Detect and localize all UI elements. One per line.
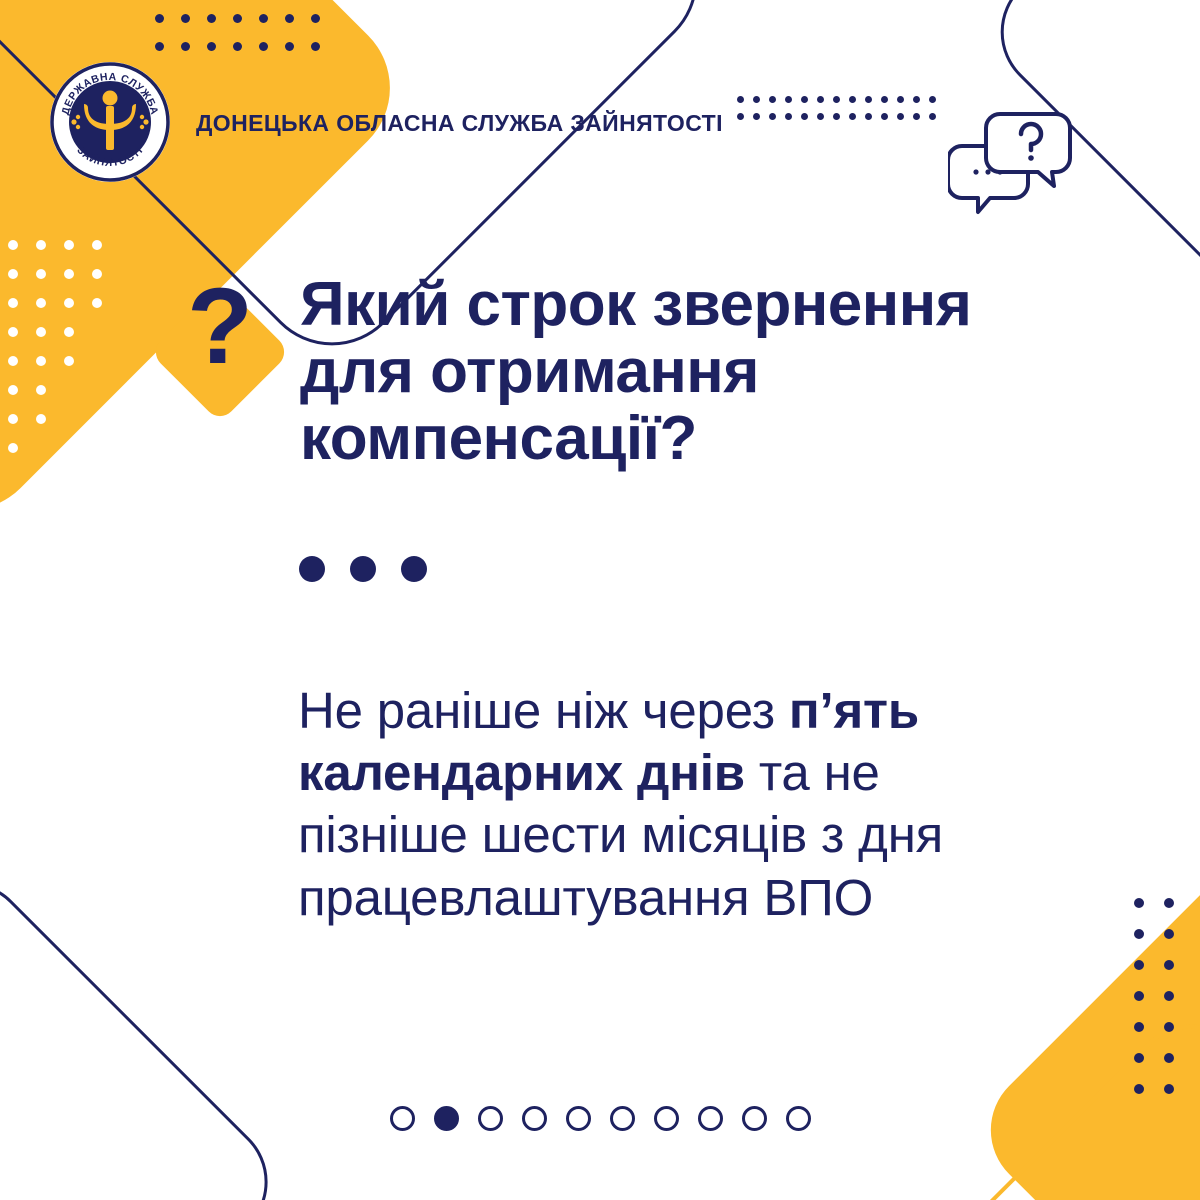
page-title: Який строк звернення для отримання компе… [300,272,1100,473]
decorative-navy-outline-diamond-bottom-left [0,857,293,1200]
decorative-dot [1134,960,1144,970]
decorative-dot [8,385,18,395]
decorative-dot [8,414,18,424]
decorative-dot [36,269,46,279]
decorative-dot [1164,1084,1174,1094]
decorative-dot [36,443,46,453]
pagination-dot-1[interactable] [390,1106,415,1131]
answer-text-part1: Не раніше ніж через [298,682,789,739]
decorative-dot [1164,960,1174,970]
decorative-dot [64,327,74,337]
question-mark-badge: ? [156,288,284,416]
decorative-dot [92,385,102,395]
decorative-dot [233,42,242,51]
decorative-dot [207,42,216,51]
separator-dot [401,556,427,582]
decorative-dot [285,42,294,51]
decorative-dot [64,240,74,250]
organization-logo: ДЕРЖАВНА СЛУЖБА ЗАЙНЯТОСТІ [48,60,172,184]
pagination-dot-5[interactable] [566,1106,591,1131]
pagination-dot-9[interactable] [742,1106,767,1131]
decorative-dot [64,298,74,308]
separator-dot [350,556,376,582]
pagination-dot-2[interactable] [434,1106,459,1131]
decorative-dot [233,14,242,23]
answer-text: Не раніше ніж через п’ять календарних дн… [298,680,1058,929]
decorative-dot [181,42,190,51]
decorative-dot [155,14,164,23]
decorative-dot [1164,991,1174,1001]
separator-dots [299,556,427,582]
decorative-dot [1164,1022,1174,1032]
decorative-dot [311,42,320,51]
decorative-dot [92,414,102,424]
decorative-dot [36,327,46,337]
pagination-dot-3[interactable] [478,1106,503,1131]
decorative-dot [259,14,268,23]
organization-name: ДОНЕЦЬКА ОБЛАСНА СЛУЖБА ЗАЙНЯТОСТІ [196,110,723,137]
decorative-dot [8,269,18,279]
decorative-dot-grid-left [8,240,120,472]
decorative-dot [1134,1084,1144,1094]
slide-pagination[interactable] [0,1106,1200,1131]
infographic-slide: ДЕРЖАВНА СЛУЖБА ЗАЙНЯТОСТІ ДОНЕЦЬКА ОБЛА… [0,0,1200,1200]
decorative-dot [207,14,216,23]
decorative-dot [1134,929,1144,939]
decorative-dot [1134,898,1144,908]
decorative-dot [92,269,102,279]
decorative-dot [8,356,18,366]
decorative-dot [8,327,18,337]
decorative-dot [259,42,268,51]
pagination-dot-7[interactable] [654,1106,679,1131]
decorative-dot [1164,929,1174,939]
decorative-dot [92,327,102,337]
decorative-dot [181,14,190,23]
decorative-dot [1134,1053,1144,1063]
decorative-dot [36,356,46,366]
decorative-dot [1164,1053,1174,1063]
decorative-dot [64,443,74,453]
decorative-dot [36,385,46,395]
question-mark-glyph: ? [156,272,284,380]
decorative-dot [36,414,46,424]
decorative-dot [92,356,102,366]
decorative-dot [36,240,46,250]
decorative-dot [285,14,294,23]
pagination-dot-6[interactable] [610,1106,635,1131]
decorative-dot [64,269,74,279]
decorative-dot [1134,1022,1144,1032]
decorative-dot [36,298,46,308]
decorative-dot [64,385,74,395]
decorative-dot [1164,898,1174,908]
decorative-dot [92,240,102,250]
decorative-dot [8,443,18,453]
decorative-dot [64,356,74,366]
chat-bubbles-question-icon [948,108,1078,218]
decorative-dot [1134,991,1144,1001]
decorative-dot [155,42,164,51]
separator-dot [299,556,325,582]
decorative-dot [92,298,102,308]
pagination-dot-4[interactable] [522,1106,547,1131]
pagination-dot-8[interactable] [698,1106,723,1131]
decorative-dot [92,443,102,453]
pagination-dot-10[interactable] [786,1106,811,1131]
decorative-dot-grid-bottom-right [1134,898,1194,1115]
header: ДЕРЖАВНА СЛУЖБА ЗАЙНЯТОСТІ ДОНЕЦЬКА ОБЛА… [0,60,1200,184]
decorative-dot [8,240,18,250]
decorative-dot [8,298,18,308]
decorative-dot [64,414,74,424]
decorative-dot [311,14,320,23]
